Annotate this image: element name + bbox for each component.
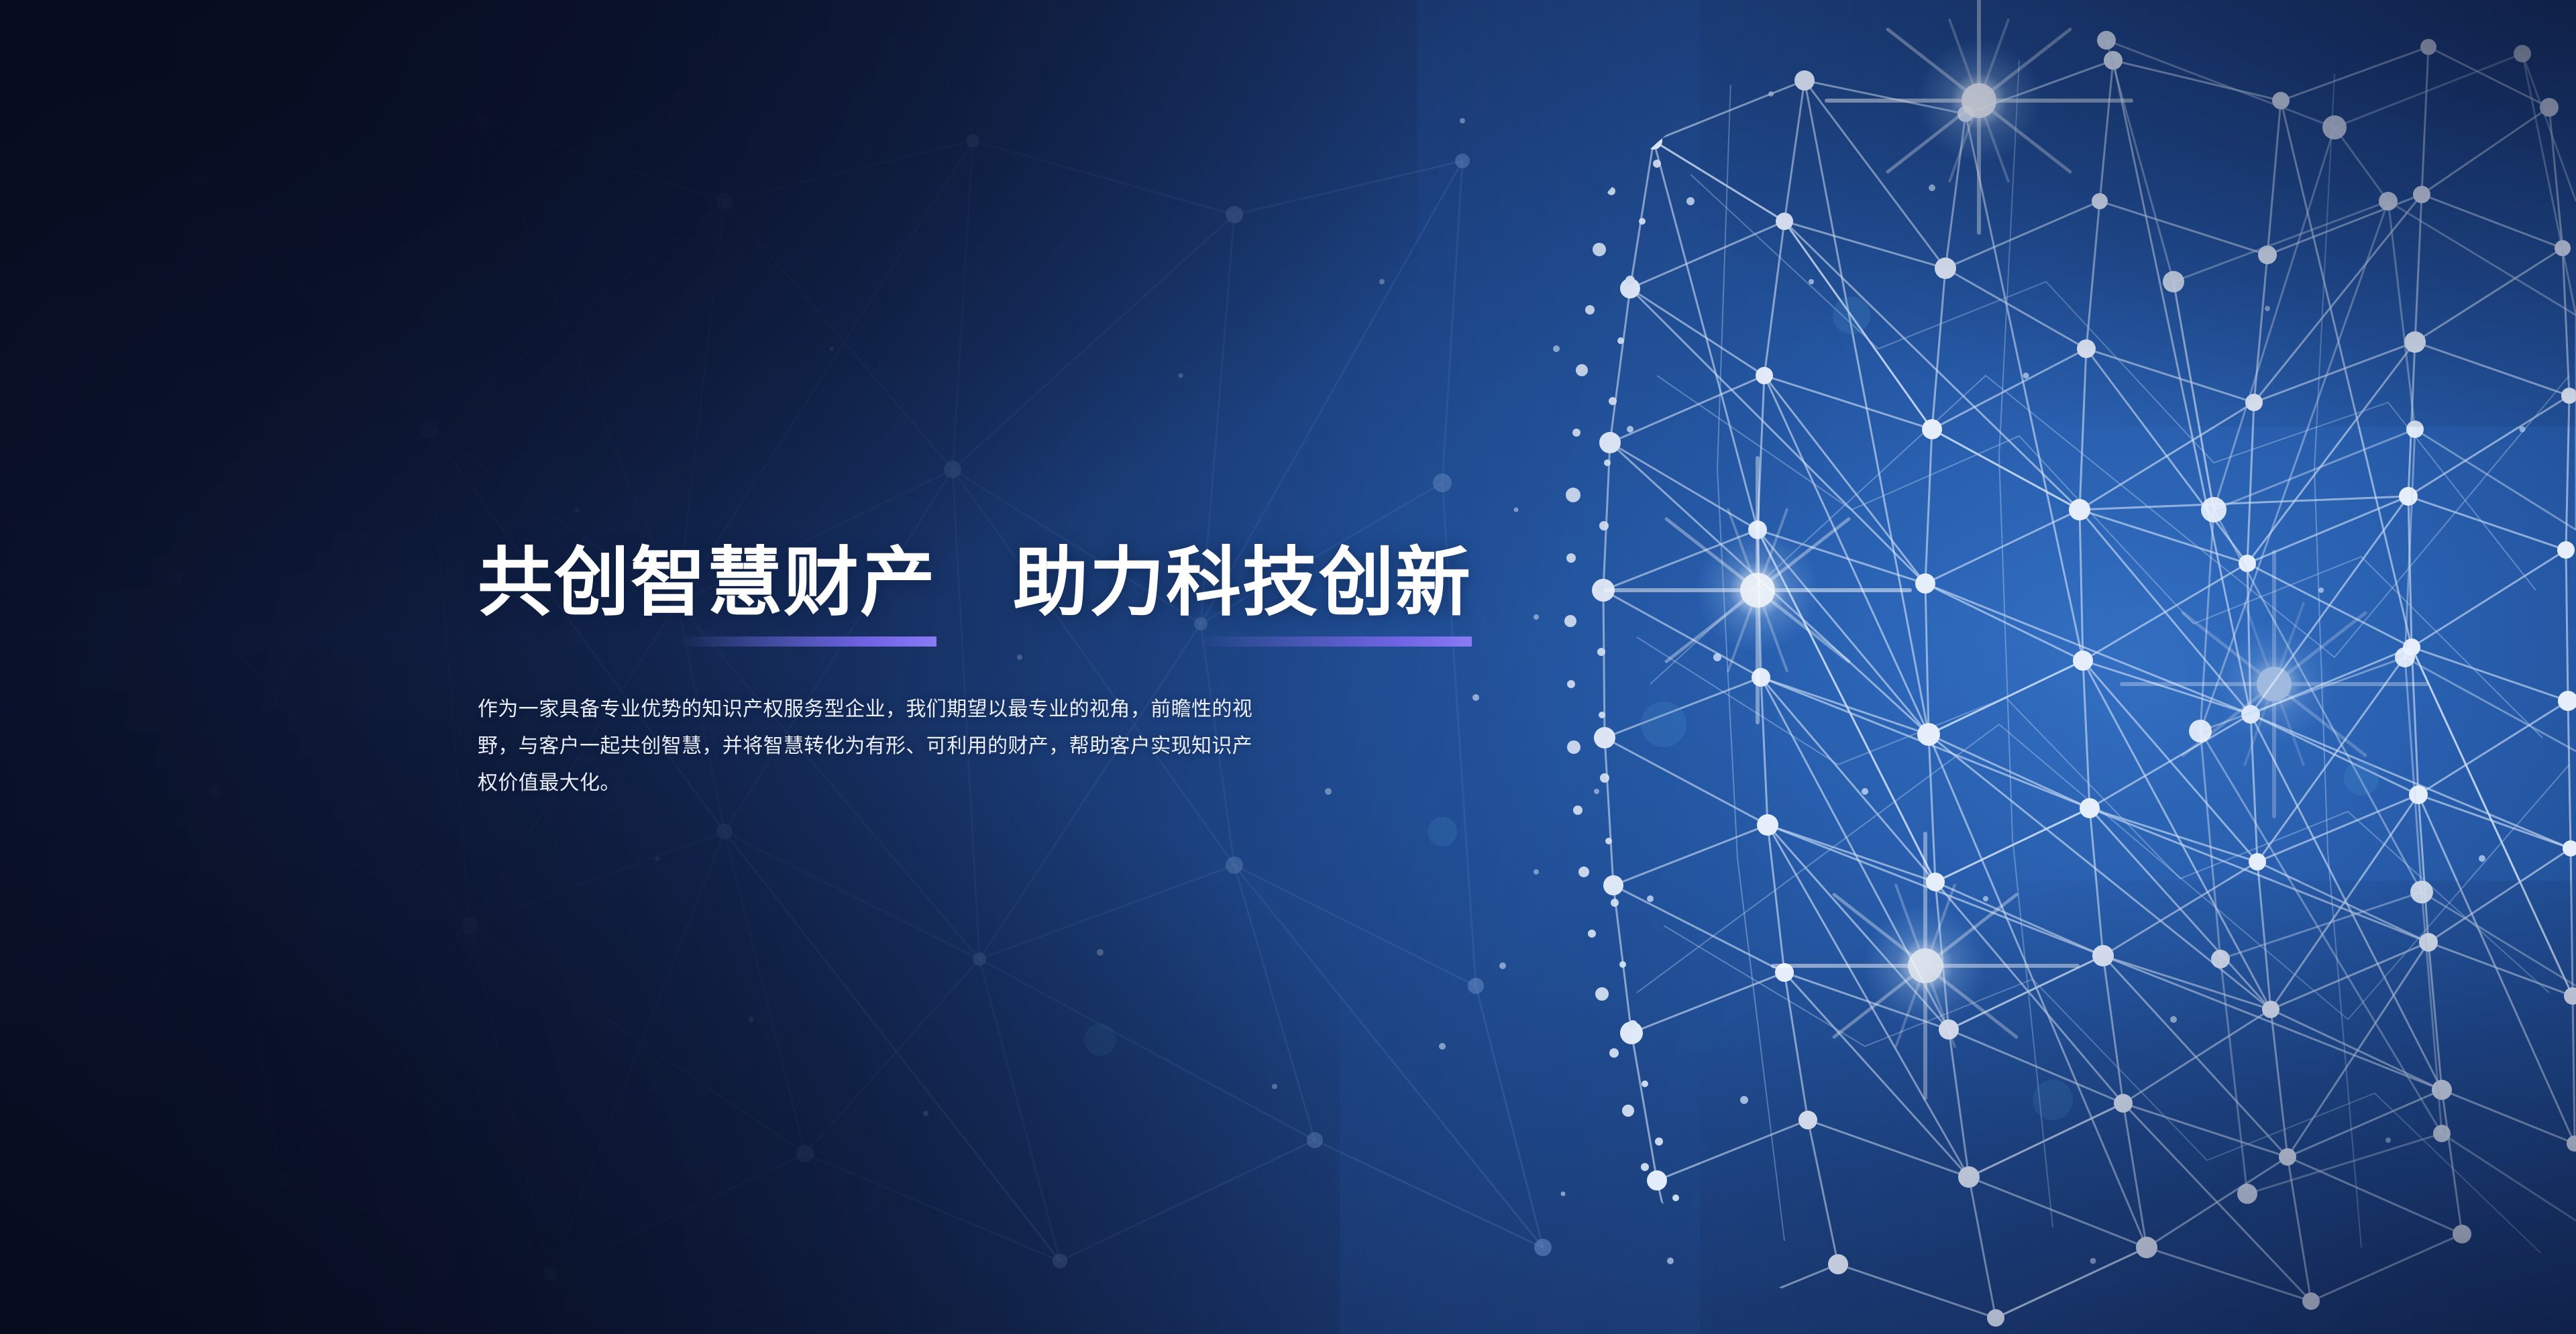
headline-row: 共创智慧财产 助力科技创新 bbox=[478, 541, 1450, 647]
hero-banner: 共创智慧财产 助力科技创新 作为一家具备专业优势的知识产权服务型企业，我们期望以… bbox=[0, 0, 2576, 1334]
banner-description: 作为一家具备专业优势的知识产权服务型企业，我们期望以最专业的视角，前瞻性的视野，… bbox=[478, 691, 1261, 801]
banner-content: 共创智慧财产 助力科技创新 作为一家具备专业优势的知识产权服务型企业，我们期望以… bbox=[478, 541, 1450, 822]
headline-part-2: 助力科技创新 bbox=[1013, 541, 1472, 624]
headline-group-secondary: 助力科技创新 bbox=[1013, 541, 1472, 647]
headline-underline-2 bbox=[1197, 636, 1472, 647]
headline-underline-1 bbox=[680, 636, 936, 647]
headline-part-1: 共创智慧财产 bbox=[478, 541, 936, 624]
headline-group-primary: 共创智慧财产 bbox=[478, 541, 936, 647]
